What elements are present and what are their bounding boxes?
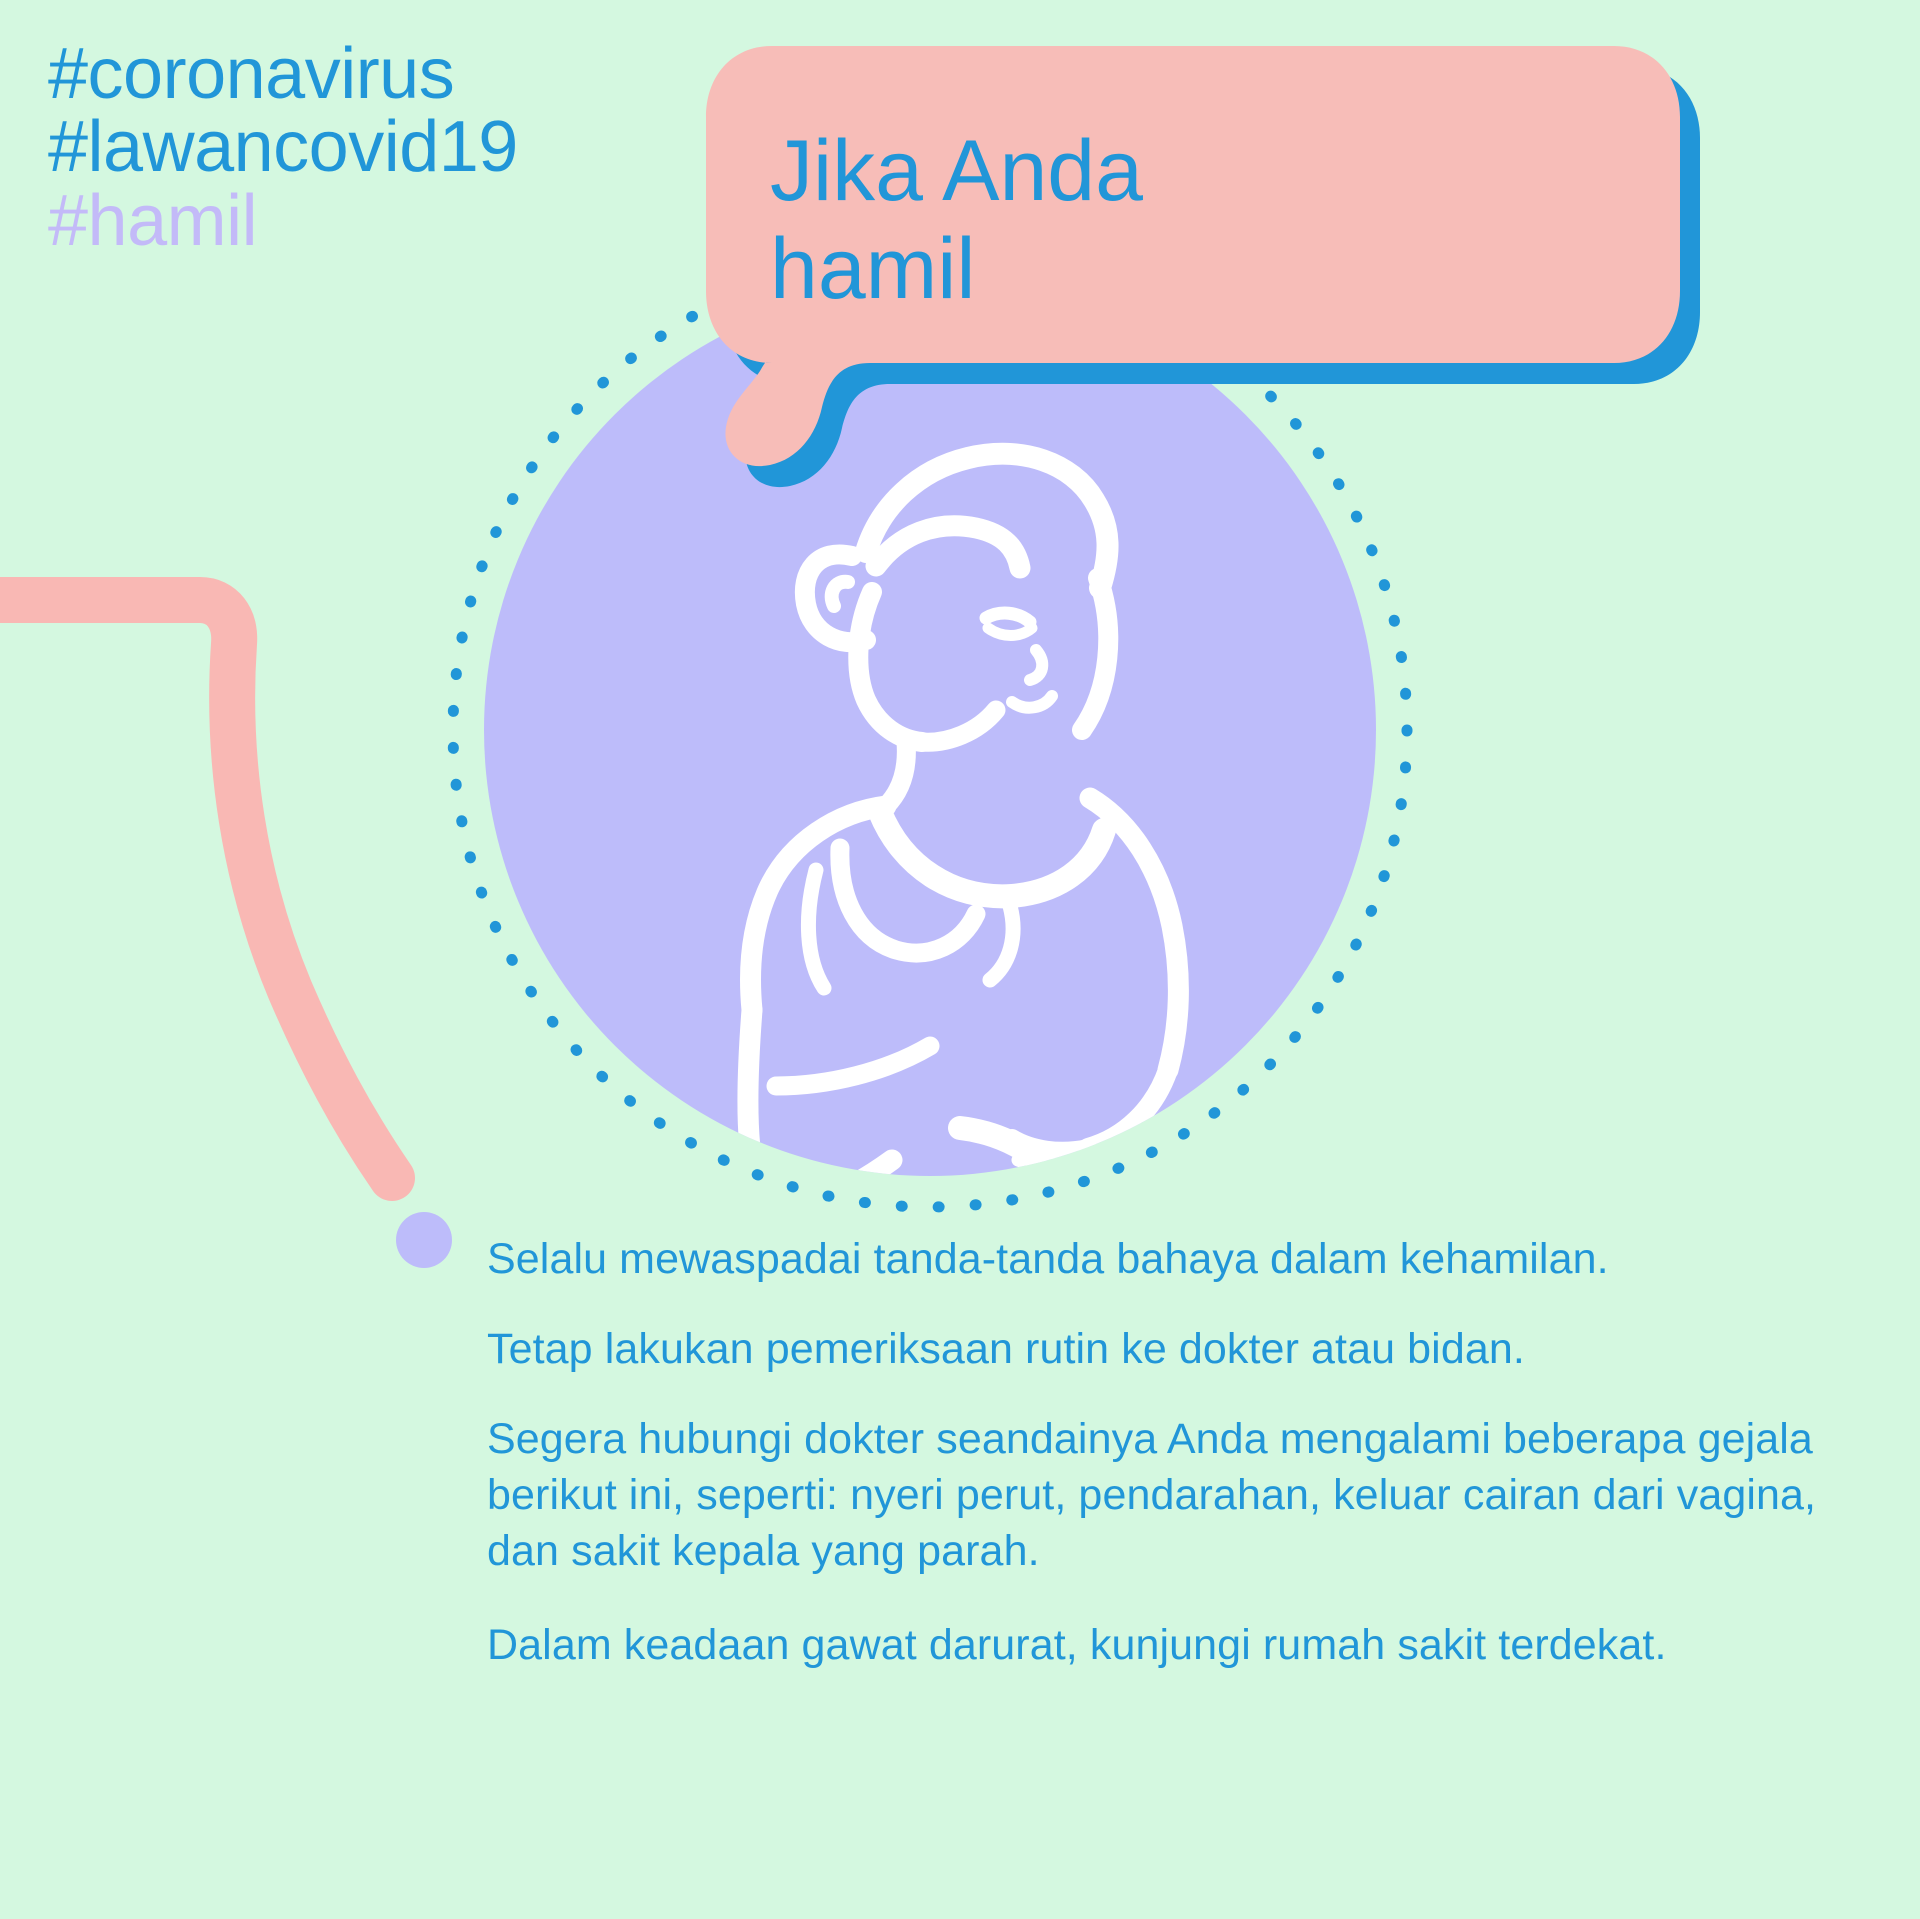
pink-curve-connector (0, 600, 392, 1178)
advice-item-1: Selalu mewaspadai tanda-tanda bahaya dal… (487, 1232, 1817, 1288)
page-title: Jika Anda hamil (770, 122, 1600, 318)
hashtag-hamil: #hamil (48, 185, 518, 258)
purple-bullet-dot (396, 1212, 452, 1268)
advice-list: Selalu mewaspadai tanda-tanda bahaya dal… (487, 1232, 1817, 1679)
hashtag-group: #coronavirus #lawancovid19 #hamil (48, 38, 518, 258)
infographic-poster: #coronavirus #lawancovid19 #hamil Jika A… (0, 0, 1920, 1919)
advice-item-4: Dalam keadaan gawat darurat, kunjungi ru… (487, 1613, 1817, 1678)
hashtag-lawancovid19: #lawancovid19 (48, 111, 518, 184)
hashtag-coronavirus: #coronavirus (48, 38, 518, 111)
advice-item-2: Tetap lakukan pemeriksaan rutin ke dokte… (487, 1322, 1817, 1378)
advice-item-3: Segera hubungi dokter seandainya Anda me… (487, 1412, 1817, 1580)
